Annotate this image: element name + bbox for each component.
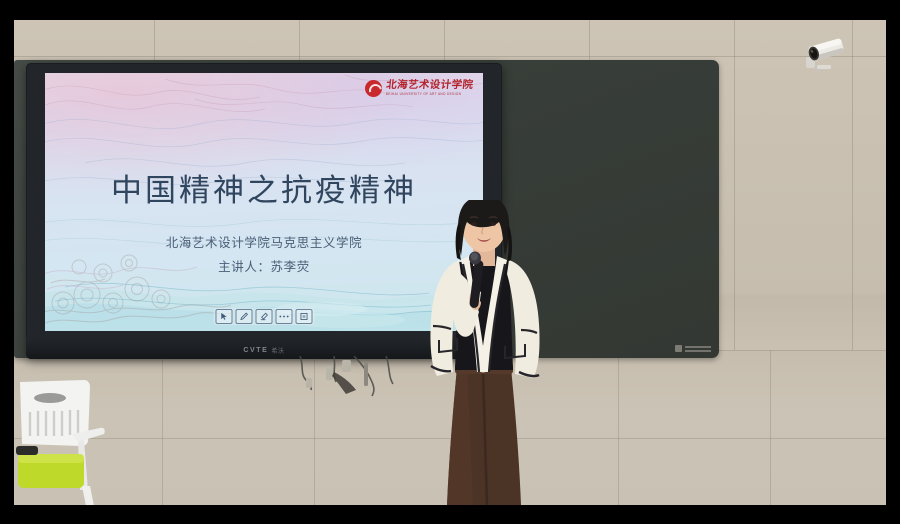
letterbox-bar-right xyxy=(886,0,900,524)
logo-bars-icon xyxy=(685,346,711,352)
pen-icon[interactable] xyxy=(236,309,253,324)
display-brand-label: CVTE xyxy=(243,347,268,354)
annotation-toolbar[interactable] xyxy=(214,308,315,325)
security-camera xyxy=(800,32,852,76)
hanging-cables xyxy=(290,356,420,398)
wall-grout-line xyxy=(14,56,886,57)
screenshot-frame-icon[interactable] xyxy=(296,309,313,324)
blackboard-corner-logo xyxy=(675,345,711,352)
screenshot-root: 北海艺术设计学院 BEIHAI UNIVERSITY OF ART AND DE… xyxy=(0,0,900,524)
logo-square-icon xyxy=(675,345,682,352)
letterbox-bar-left xyxy=(0,0,14,524)
presenter xyxy=(409,200,559,505)
classroom-chair xyxy=(16,378,126,505)
university-name-en: BEIHAI UNIVERSITY OF ART AND DESIGN xyxy=(386,93,473,96)
floor-tile-line xyxy=(770,350,771,505)
floor-tile-line xyxy=(618,350,619,505)
video-frame: 北海艺术设计学院 BEIHAI UNIVERSITY OF ART AND DE… xyxy=(14,20,886,505)
floor-tile-line xyxy=(162,350,163,505)
display-brand: CVTE 希沃 xyxy=(243,346,284,355)
university-name-block: 北海艺术设计学院 BEIHAI UNIVERSITY OF ART AND DE… xyxy=(386,81,473,96)
letterbox-bar-top xyxy=(0,0,900,20)
display-brand-sub: 希沃 xyxy=(271,346,284,355)
university-swirl-icon xyxy=(365,80,382,97)
letterbox-bar-bottom xyxy=(0,505,900,524)
eraser-icon[interactable] xyxy=(256,309,273,324)
slide-university-logo: 北海艺术设计学院 BEIHAI UNIVERSITY OF ART AND DE… xyxy=(365,80,473,97)
wall-grout-line xyxy=(852,20,853,350)
university-name-cn: 北海艺术设计学院 xyxy=(385,81,473,92)
cursor-select-icon[interactable] xyxy=(216,309,233,324)
wall-grout-line xyxy=(734,20,735,350)
more-ellipsis-icon[interactable] xyxy=(276,309,293,324)
